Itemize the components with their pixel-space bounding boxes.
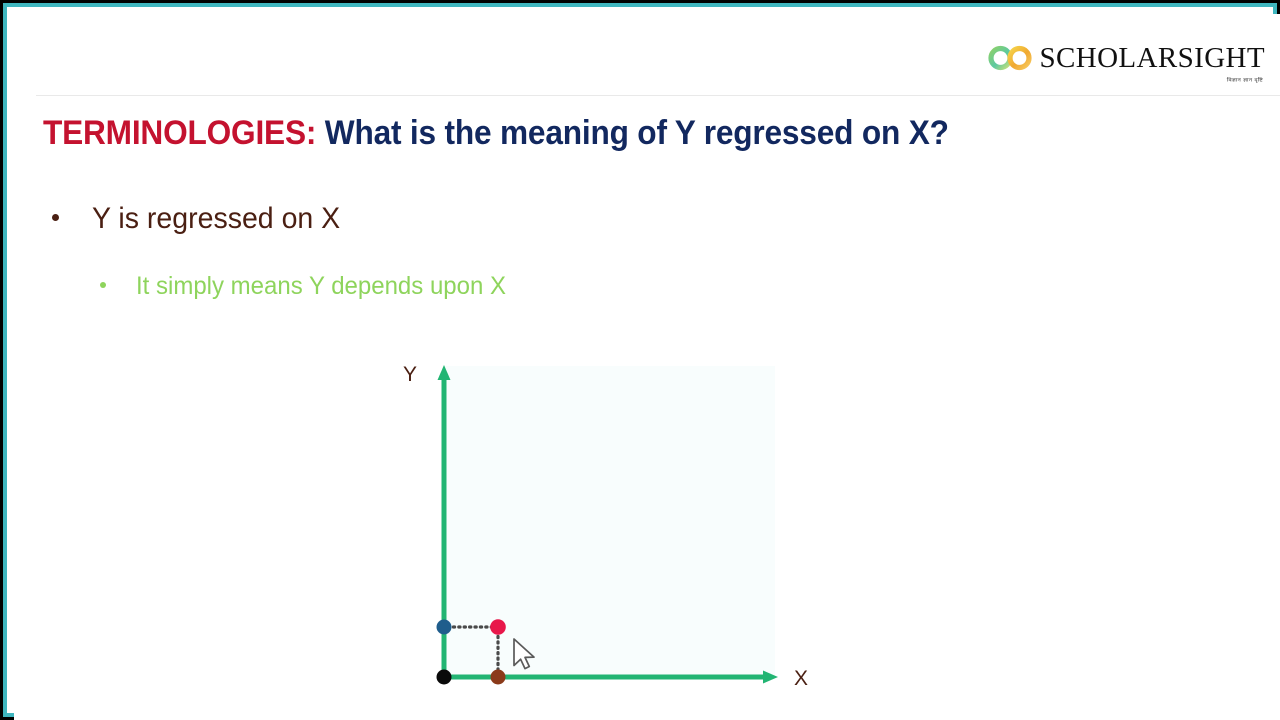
origin-point bbox=[437, 670, 452, 685]
bullet-level2: It simply means Y depends upon X bbox=[100, 272, 521, 301]
arrow-cursor-icon bbox=[514, 639, 534, 669]
data-point bbox=[490, 619, 506, 635]
title-accent: TERMINOLOGIES: bbox=[43, 114, 316, 152]
slide-header: SCHOLARSIGHT विज्ञान ज्ञान दृष्टि bbox=[14, 14, 1280, 95]
bullet-dot-icon bbox=[52, 214, 59, 221]
slide-canvas: SCHOLARSIGHT विज्ञान ज्ञान दृष्टि TERMIN… bbox=[14, 14, 1280, 720]
title-main: What is the meaning of Y regressed on X? bbox=[316, 114, 949, 152]
x-axis-label: X bbox=[794, 667, 808, 690]
x-axis bbox=[444, 671, 778, 684]
brand-tagline: विज्ञान ज्ञान दृष्टि bbox=[1227, 76, 1263, 83]
plot-background bbox=[444, 366, 775, 679]
header-divider bbox=[36, 95, 1280, 96]
y-axis-label: Y bbox=[403, 363, 417, 386]
bullet-level1: Y is regressed on X bbox=[52, 202, 353, 236]
x-value-point bbox=[491, 670, 506, 685]
y-axis bbox=[438, 365, 451, 677]
sub-bullet-dot-icon bbox=[100, 282, 106, 288]
slide-border: SCHOLARSIGHT विज्ञान ज्ञान दृष्टि TERMIN… bbox=[3, 3, 1277, 717]
y-value-point bbox=[437, 620, 452, 635]
bullet-level1-label: Y is regressed on X bbox=[92, 202, 340, 236]
brand-name: SCHOLARSIGHT bbox=[1039, 42, 1265, 74]
page-title: TERMINOLOGIES: What is the meaning of Y … bbox=[43, 114, 1140, 153]
brand-logo: SCHOLARSIGHT विज्ञान ज्ञान दृष्टि bbox=[988, 38, 1265, 78]
slide-frame: SCHOLARSIGHT विज्ञान ज्ञान दृष्टि TERMIN… bbox=[0, 0, 1280, 720]
infinity-icon bbox=[988, 45, 1034, 71]
bullet-level2-label: It simply means Y depends upon X bbox=[136, 272, 506, 301]
